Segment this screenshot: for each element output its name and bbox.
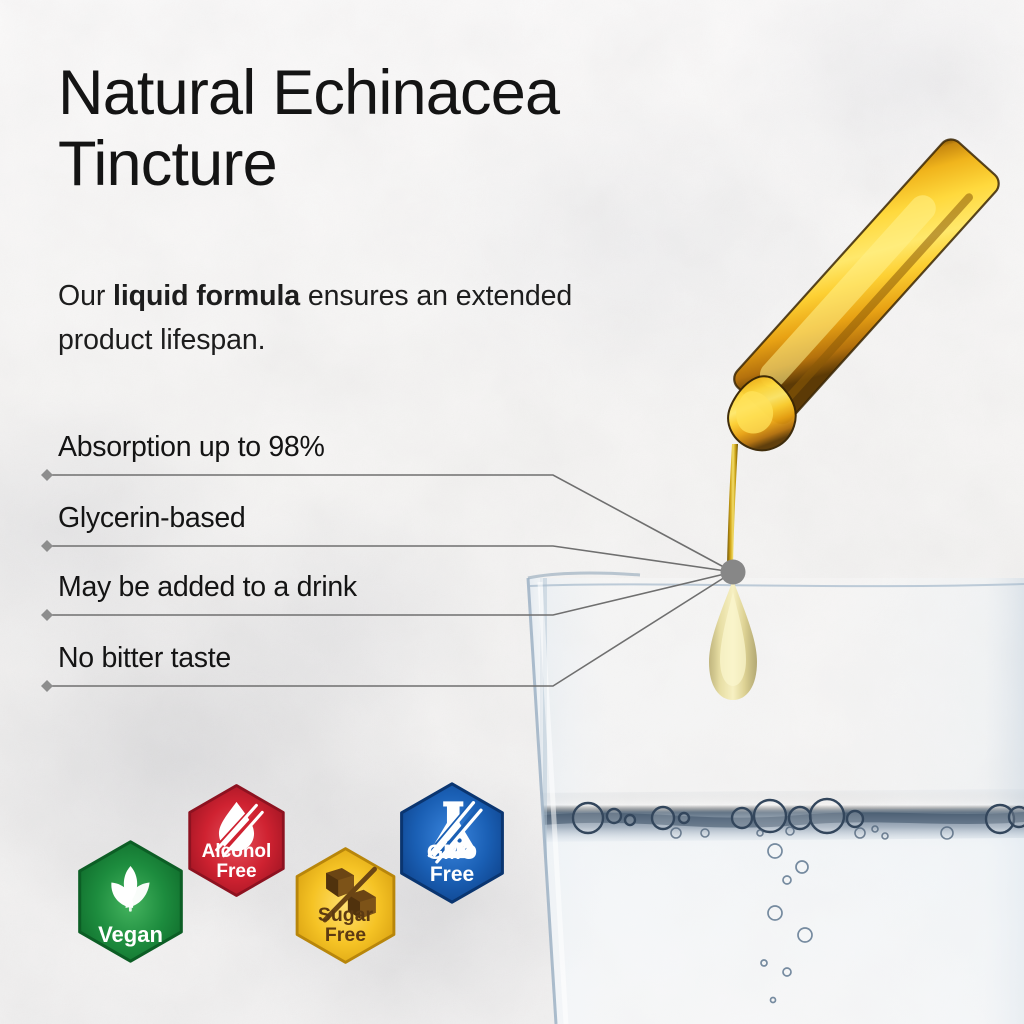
badge-vegan[interactable]: Vegan	[67, 838, 194, 965]
certification-badges: Vegan	[0, 0, 1024, 1024]
badge-alcohol-free[interactable]: Alcohol Free	[178, 782, 295, 899]
badge-sugar-free[interactable]: Sugar Free	[285, 845, 406, 966]
badge-gmo-free[interactable]: GMO Free	[389, 780, 515, 906]
product-infographic: Natural Echinacea Tincture Our liquid fo…	[0, 0, 1024, 1024]
